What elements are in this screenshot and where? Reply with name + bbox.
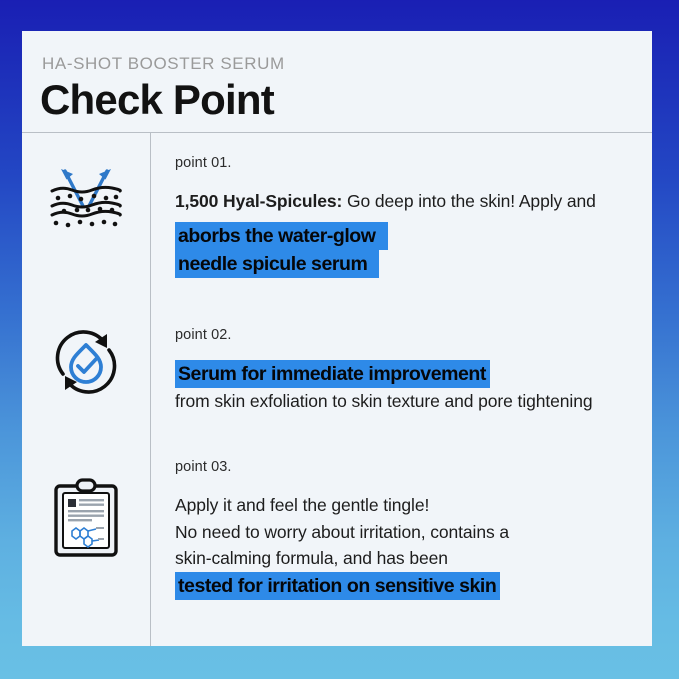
card-header: HA-SHOT BOOSTER SERUM Check Point [22, 31, 652, 133]
point-03-line-2: No need to worry about irritation, conta… [175, 519, 644, 546]
highlight-text: aborbs the water-glow [175, 222, 388, 250]
point-01-highlight-row-1: aborbs the water-glow [175, 222, 644, 250]
highlight-text: Serum for immediate improvement [175, 360, 490, 388]
clipboard-molecule-icon [22, 478, 150, 558]
point-03-line-3: skin-calming formula, and has been [175, 545, 644, 572]
check-point-card: HA-SHOT BOOSTER SERUM Check Point [22, 31, 652, 646]
point-label-02: point 02. [175, 327, 644, 343]
point-01-bold-lead: 1,500 Hyal-Spicules: [175, 191, 342, 211]
point-block-01: point 01. 1,500 Hyal-Spicules: Go deep i… [175, 155, 644, 278]
point-01-line-1-rest: Go deep into the skin! Apply and [342, 191, 596, 211]
point-label-01: point 01. [175, 155, 644, 171]
text-column: point 01. 1,500 Hyal-Spicules: Go deep i… [151, 133, 652, 646]
point-03-highlight-row-1: tested for irritation on sensitive skin [175, 572, 644, 600]
highlight-text: needle spicule serum [175, 250, 379, 278]
point-block-02: point 02. Serum for immediate improvemen… [175, 327, 644, 415]
point-label-03: point 03. [175, 459, 644, 475]
card-body: point 01. 1,500 Hyal-Spicules: Go deep i… [22, 133, 652, 646]
droplet-check-refresh-icon [22, 325, 150, 399]
page-title: Check Point [40, 76, 652, 123]
needles-into-skin-icon [22, 165, 150, 231]
icon-column [22, 133, 151, 646]
product-eyebrow-label: HA-SHOT BOOSTER SERUM [42, 54, 652, 74]
point-01-highlight-row-2: needle spicule serum [175, 250, 644, 278]
point-02-highlight-row-1: Serum for immediate improvement [175, 360, 644, 388]
point-03-line-1: Apply it and feel the gentle tingle! [175, 492, 644, 519]
point-block-03: point 03. Apply it and feel the gentle t… [175, 459, 644, 600]
highlight-text: tested for irritation on sensitive skin [175, 572, 500, 600]
point-01-line-1: 1,500 Hyal-Spicules: Go deep into the sk… [175, 188, 644, 215]
point-02-line-2: from skin exfoliation to skin texture an… [175, 388, 644, 415]
